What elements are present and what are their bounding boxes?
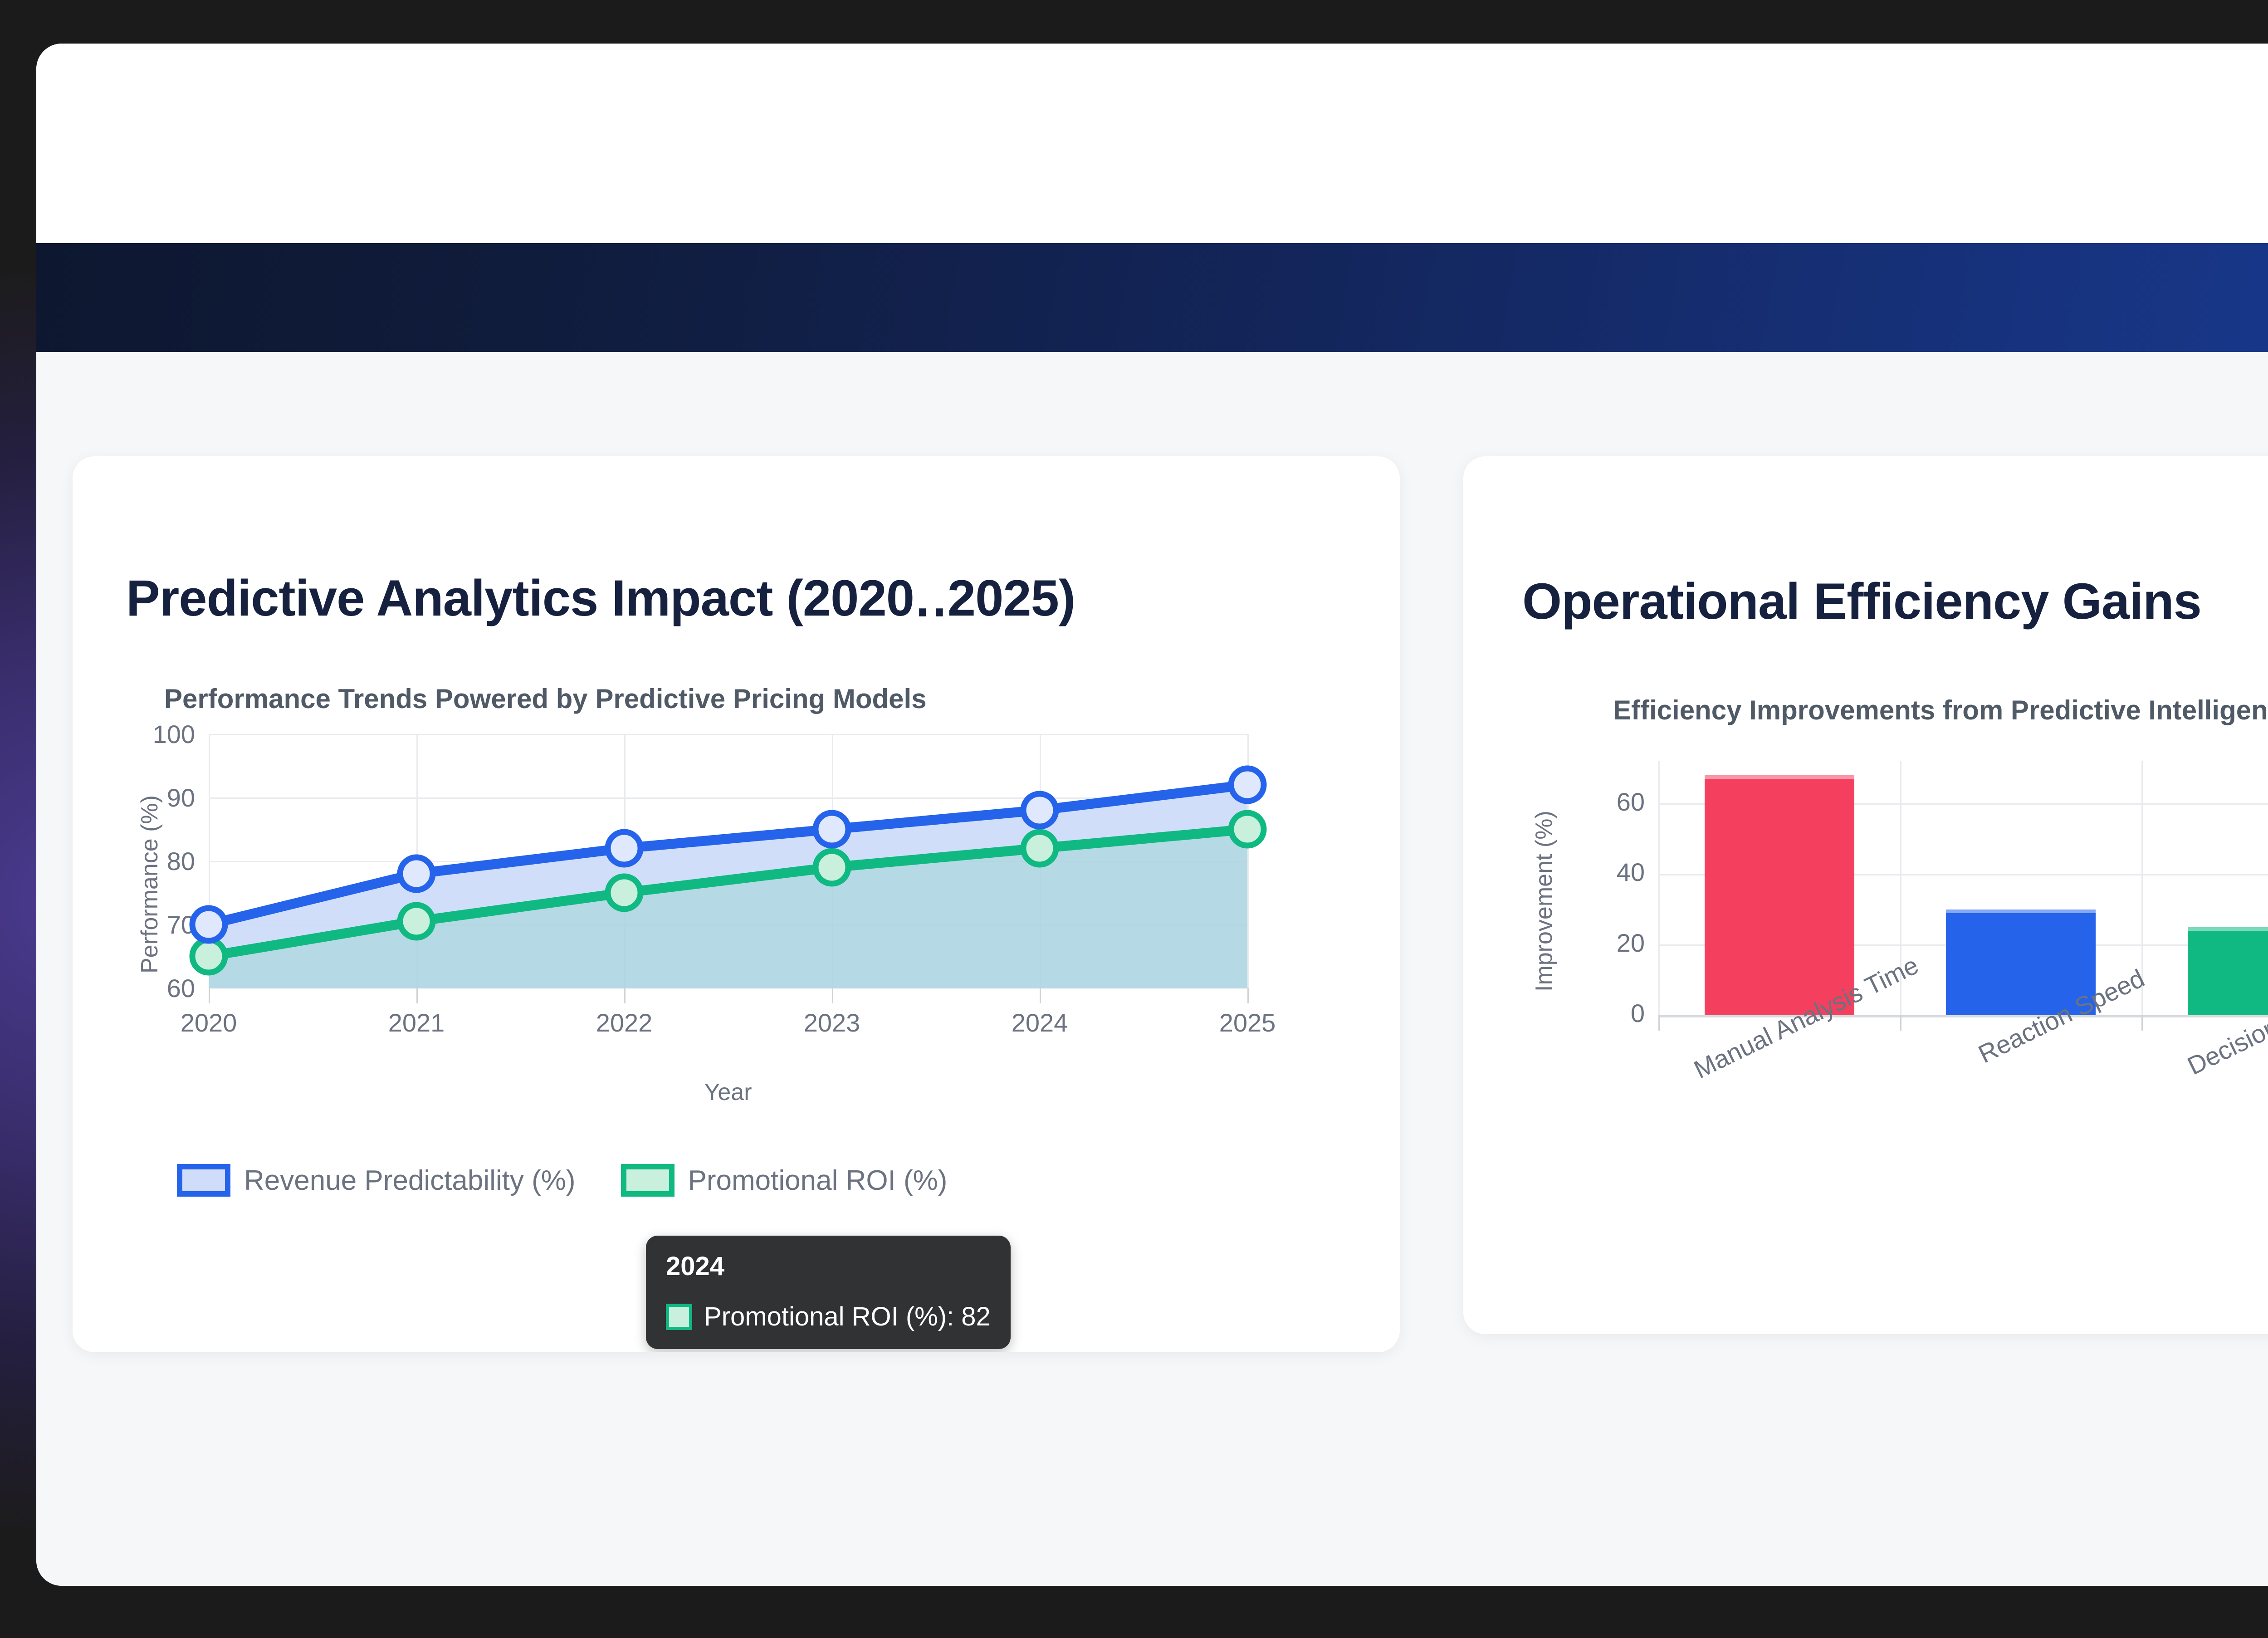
data-point-marker	[816, 813, 848, 846]
data-point-marker	[1023, 832, 1056, 865]
line-chart-plot-area[interactable]	[209, 734, 1247, 988]
x-tick-mark	[1040, 988, 1041, 1003]
tooltip-value-label: Promotional ROI (%): 82	[704, 1301, 991, 1332]
line-chart-subtitle: Performance Trends Powered by Predictive…	[164, 683, 927, 714]
x-tick-mark	[1247, 988, 1249, 1003]
bar-decision-accuracy[interactable]	[2188, 927, 2268, 1015]
data-point-marker	[400, 905, 433, 938]
data-point-marker	[1231, 813, 1264, 846]
x-tick-mark	[624, 988, 626, 1003]
gridline-horizontal	[209, 988, 1247, 989]
legend-item-label: Revenue Predictability (%)	[244, 1164, 576, 1197]
x-tick-label: 2024	[1012, 1008, 1068, 1037]
bar-chart-plot-area[interactable]	[1658, 761, 2268, 1015]
data-point-marker	[192, 908, 225, 941]
y-tick-label: 60	[1617, 787, 1645, 817]
data-point-marker	[608, 876, 640, 909]
gridline-vertical	[1658, 761, 1660, 1015]
tooltip-title: 2024	[666, 1251, 991, 1281]
legend-swatch-icon	[621, 1164, 675, 1197]
data-point-marker	[816, 851, 848, 884]
y-tick-label: 60	[167, 973, 195, 1003]
bar-chart-y-axis-title: Improvement (%)	[1530, 811, 1558, 992]
x-tick-mark	[2141, 1015, 2143, 1031]
bar-highlight	[2188, 927, 2268, 931]
line-chart-legend: Revenue Predictability (%) Promotional R…	[177, 1164, 947, 1197]
bar-highlight	[1946, 909, 2096, 913]
legend-item-promotional-roi[interactable]: Promotional ROI (%)	[621, 1164, 948, 1197]
x-tick-mark	[1658, 1015, 1660, 1031]
tooltip-series-swatch-icon	[666, 1304, 692, 1330]
legend-swatch-icon	[177, 1164, 230, 1197]
data-point-marker	[608, 832, 640, 865]
bar-manual-analysis-time[interactable]	[1705, 775, 1854, 1015]
x-tick-label: 2023	[804, 1008, 860, 1037]
y-tick-label: 0	[1631, 998, 1645, 1028]
legend-item-revenue-predictability[interactable]: Revenue Predictability (%)	[177, 1164, 576, 1197]
page-title: Operational Efficiency Gains	[1522, 572, 2201, 631]
app-window: Predictive Analytics Impact (2020‥2025) …	[36, 44, 2268, 1586]
data-point-marker	[1023, 794, 1056, 826]
line-chart-series-svg	[209, 734, 1247, 988]
chart-tooltip: 2024 Promotional ROI (%): 82	[646, 1236, 1011, 1349]
data-point-marker	[400, 857, 433, 890]
y-tick-label: 80	[167, 846, 195, 876]
predictive-analytics-card: Predictive Analytics Impact (2020‥2025) …	[73, 456, 1400, 1352]
data-point-marker	[1231, 768, 1264, 801]
legend-item-label: Promotional ROI (%)	[688, 1164, 948, 1197]
bar-chart-subtitle: Efficiency Improvements from Predictive …	[1613, 694, 2268, 726]
y-tick-label: 90	[167, 783, 195, 812]
x-tick-label: 2025	[1219, 1008, 1276, 1037]
x-tick-label: 2021	[388, 1008, 445, 1037]
line-chart-y-axis-title: Performance (%)	[136, 795, 163, 973]
y-tick-label: 20	[1617, 928, 1645, 958]
x-tick-label: 2022	[596, 1008, 653, 1037]
navigation-banner	[36, 243, 2268, 352]
tooltip-row: Promotional ROI (%): 82	[666, 1301, 991, 1332]
bar-highlight	[1705, 775, 1854, 779]
bar-chart-baseline	[1658, 1015, 2268, 1017]
page-content-area: Predictive Analytics Impact (2020‥2025) …	[36, 352, 2268, 1586]
cards-row: Predictive Analytics Impact (2020‥2025) …	[36, 456, 2268, 1354]
x-tick-label: 2020	[181, 1008, 237, 1037]
y-tick-label: 40	[1617, 857, 1645, 887]
data-point-marker	[192, 940, 225, 973]
y-tick-label: 100	[153, 719, 195, 749]
page-title: Predictive Analytics Impact (2020‥2025)	[126, 569, 1075, 628]
x-tick-mark	[416, 988, 418, 1003]
x-tick-mark	[832, 988, 833, 1003]
x-tick-mark	[1900, 1015, 1901, 1031]
operational-efficiency-card: Operational Efficiency Gains Efficiency …	[1463, 456, 2268, 1334]
line-chart-x-axis-title: Year	[704, 1079, 752, 1106]
window-top-blank-area	[36, 44, 2268, 243]
x-tick-mark	[209, 988, 210, 1003]
